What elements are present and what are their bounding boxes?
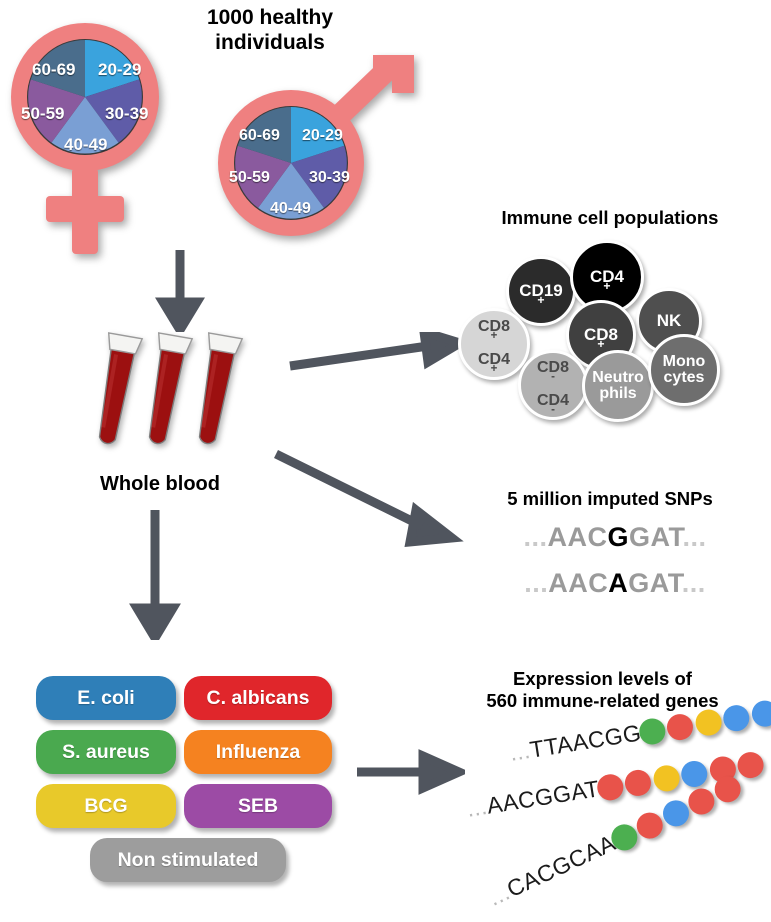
snp-row: ...AACAGAT...	[470, 568, 760, 599]
stimulus-chip-influenza[interactable]: Influenza	[184, 730, 332, 774]
immune-cell-label: Neutrophils	[592, 370, 644, 403]
immune-cell-populations-title: Immune cell populations	[455, 207, 765, 229]
gene-bead	[750, 698, 771, 728]
immune-cell-cd8-cd4-: CD8-CD4-	[518, 350, 588, 420]
immune-cell-label: CD8+CD4+	[478, 319, 510, 368]
immune-cell-label: Monocytes	[663, 354, 706, 387]
arrow-cohort-to-blood	[150, 250, 210, 332]
snp-row: ...AACGGAT...	[470, 522, 760, 553]
strand-sequence: ...TTAACGG	[508, 719, 643, 766]
female-pie-label-50-59: 50-59	[21, 104, 64, 124]
snp-title: 5 million imputed SNPs	[455, 488, 765, 510]
stimulus-chip-bcg[interactable]: BCG	[36, 784, 176, 828]
male-pie-label-20-29: 20-29	[302, 127, 343, 145]
arrow-blood-to-cells	[288, 332, 463, 382]
female-pie-label-20-29: 20-29	[98, 60, 141, 80]
male-pie-label-40-49: 40-49	[270, 200, 311, 218]
female-pie-label-40-49: 40-49	[64, 135, 107, 155]
gene-bead	[736, 750, 766, 780]
female-symbol: 20-29 30-39 40-49 50-59 60-69	[6, 18, 192, 258]
gene-bead	[693, 707, 723, 737]
stimulus-chip-s-aureus[interactable]: S. aureus	[36, 730, 176, 774]
male-pie-label-30-39: 30-39	[309, 169, 350, 187]
stimulus-label: S. aureus	[62, 741, 150, 764]
male-symbol: 20-29 30-39 40-49 50-59 60-69	[198, 55, 428, 255]
immune-cell-mono-cytes: Monocytes	[648, 334, 720, 406]
stimuli-list: E. coliC. albicansS. aureusInfluenzaBCGS…	[36, 676, 336, 902]
strand-sequence: ...AACGGAT	[465, 775, 602, 823]
immune-cell-label: CD8-CD4-	[537, 360, 569, 409]
diagram-canvas: 1000 healthyindividuals 20-29 30-39 40-4…	[0, 0, 771, 922]
gene-bead	[595, 772, 625, 802]
whole-blood-label: Whole blood	[60, 473, 260, 496]
snp-sequences: ...AACGGAT... ...AACAGAT...	[470, 522, 760, 614]
immune-cell-label: NK	[657, 312, 682, 330]
stimulus-label: Influenza	[216, 741, 301, 764]
immune-cell-label: CD19+	[519, 282, 562, 300]
immune-cell-neutro-phils: Neutrophils	[582, 350, 654, 422]
gene-bead	[665, 712, 695, 742]
expression-strands: ...TTAACGG...AACGGAT...CACGCAA	[455, 718, 771, 908]
immune-cell-label: CD8+	[584, 326, 618, 344]
stimulus-label: SEB	[238, 795, 278, 818]
stimulus-chip-non-stimulated[interactable]: Non stimulated	[90, 838, 286, 882]
immune-cell-cd8-cd4-: CD8+CD4+	[458, 308, 530, 380]
male-pie-label-50-59: 50-59	[229, 169, 270, 187]
cohort-title: 1000 healthyindividuals	[160, 6, 380, 56]
stimulus-label: C. albicans	[207, 687, 310, 710]
stimulus-chip-e-coli[interactable]: E. coli	[36, 676, 176, 720]
blood-tubes	[95, 330, 270, 470]
female-pie-label-60-69: 60-69	[32, 60, 75, 80]
immune-cell-cluster: CD19+CD4+NKCD8+CD8+CD4+CD8-CD4-Neutrophi…	[458, 238, 768, 418]
arrow-blood-to-snps	[272, 448, 472, 548]
stimulus-label: E. coli	[77, 687, 134, 710]
gene-bead	[623, 767, 653, 797]
female-pie-label-30-39: 30-39	[105, 104, 148, 124]
immune-cell-label: CD4+	[590, 268, 624, 286]
stimulus-chip-c-albicans[interactable]: C. albicans	[184, 676, 332, 720]
arrow-stimuli-to-expression	[355, 748, 465, 798]
expression-title: Expression levels of560 immune-related g…	[440, 668, 765, 712]
gene-bead	[652, 763, 682, 793]
stimulus-chip-seb[interactable]: SEB	[184, 784, 332, 828]
gene-bead	[721, 703, 751, 733]
male-pie-label-60-69: 60-69	[239, 127, 280, 145]
arrow-blood-to-stimuli	[125, 510, 185, 640]
stimulus-label: BCG	[84, 795, 127, 818]
strand-sequence: ...CACGCAA	[484, 829, 620, 911]
gene-bead	[637, 716, 667, 746]
stimulus-label: Non stimulated	[118, 849, 259, 872]
